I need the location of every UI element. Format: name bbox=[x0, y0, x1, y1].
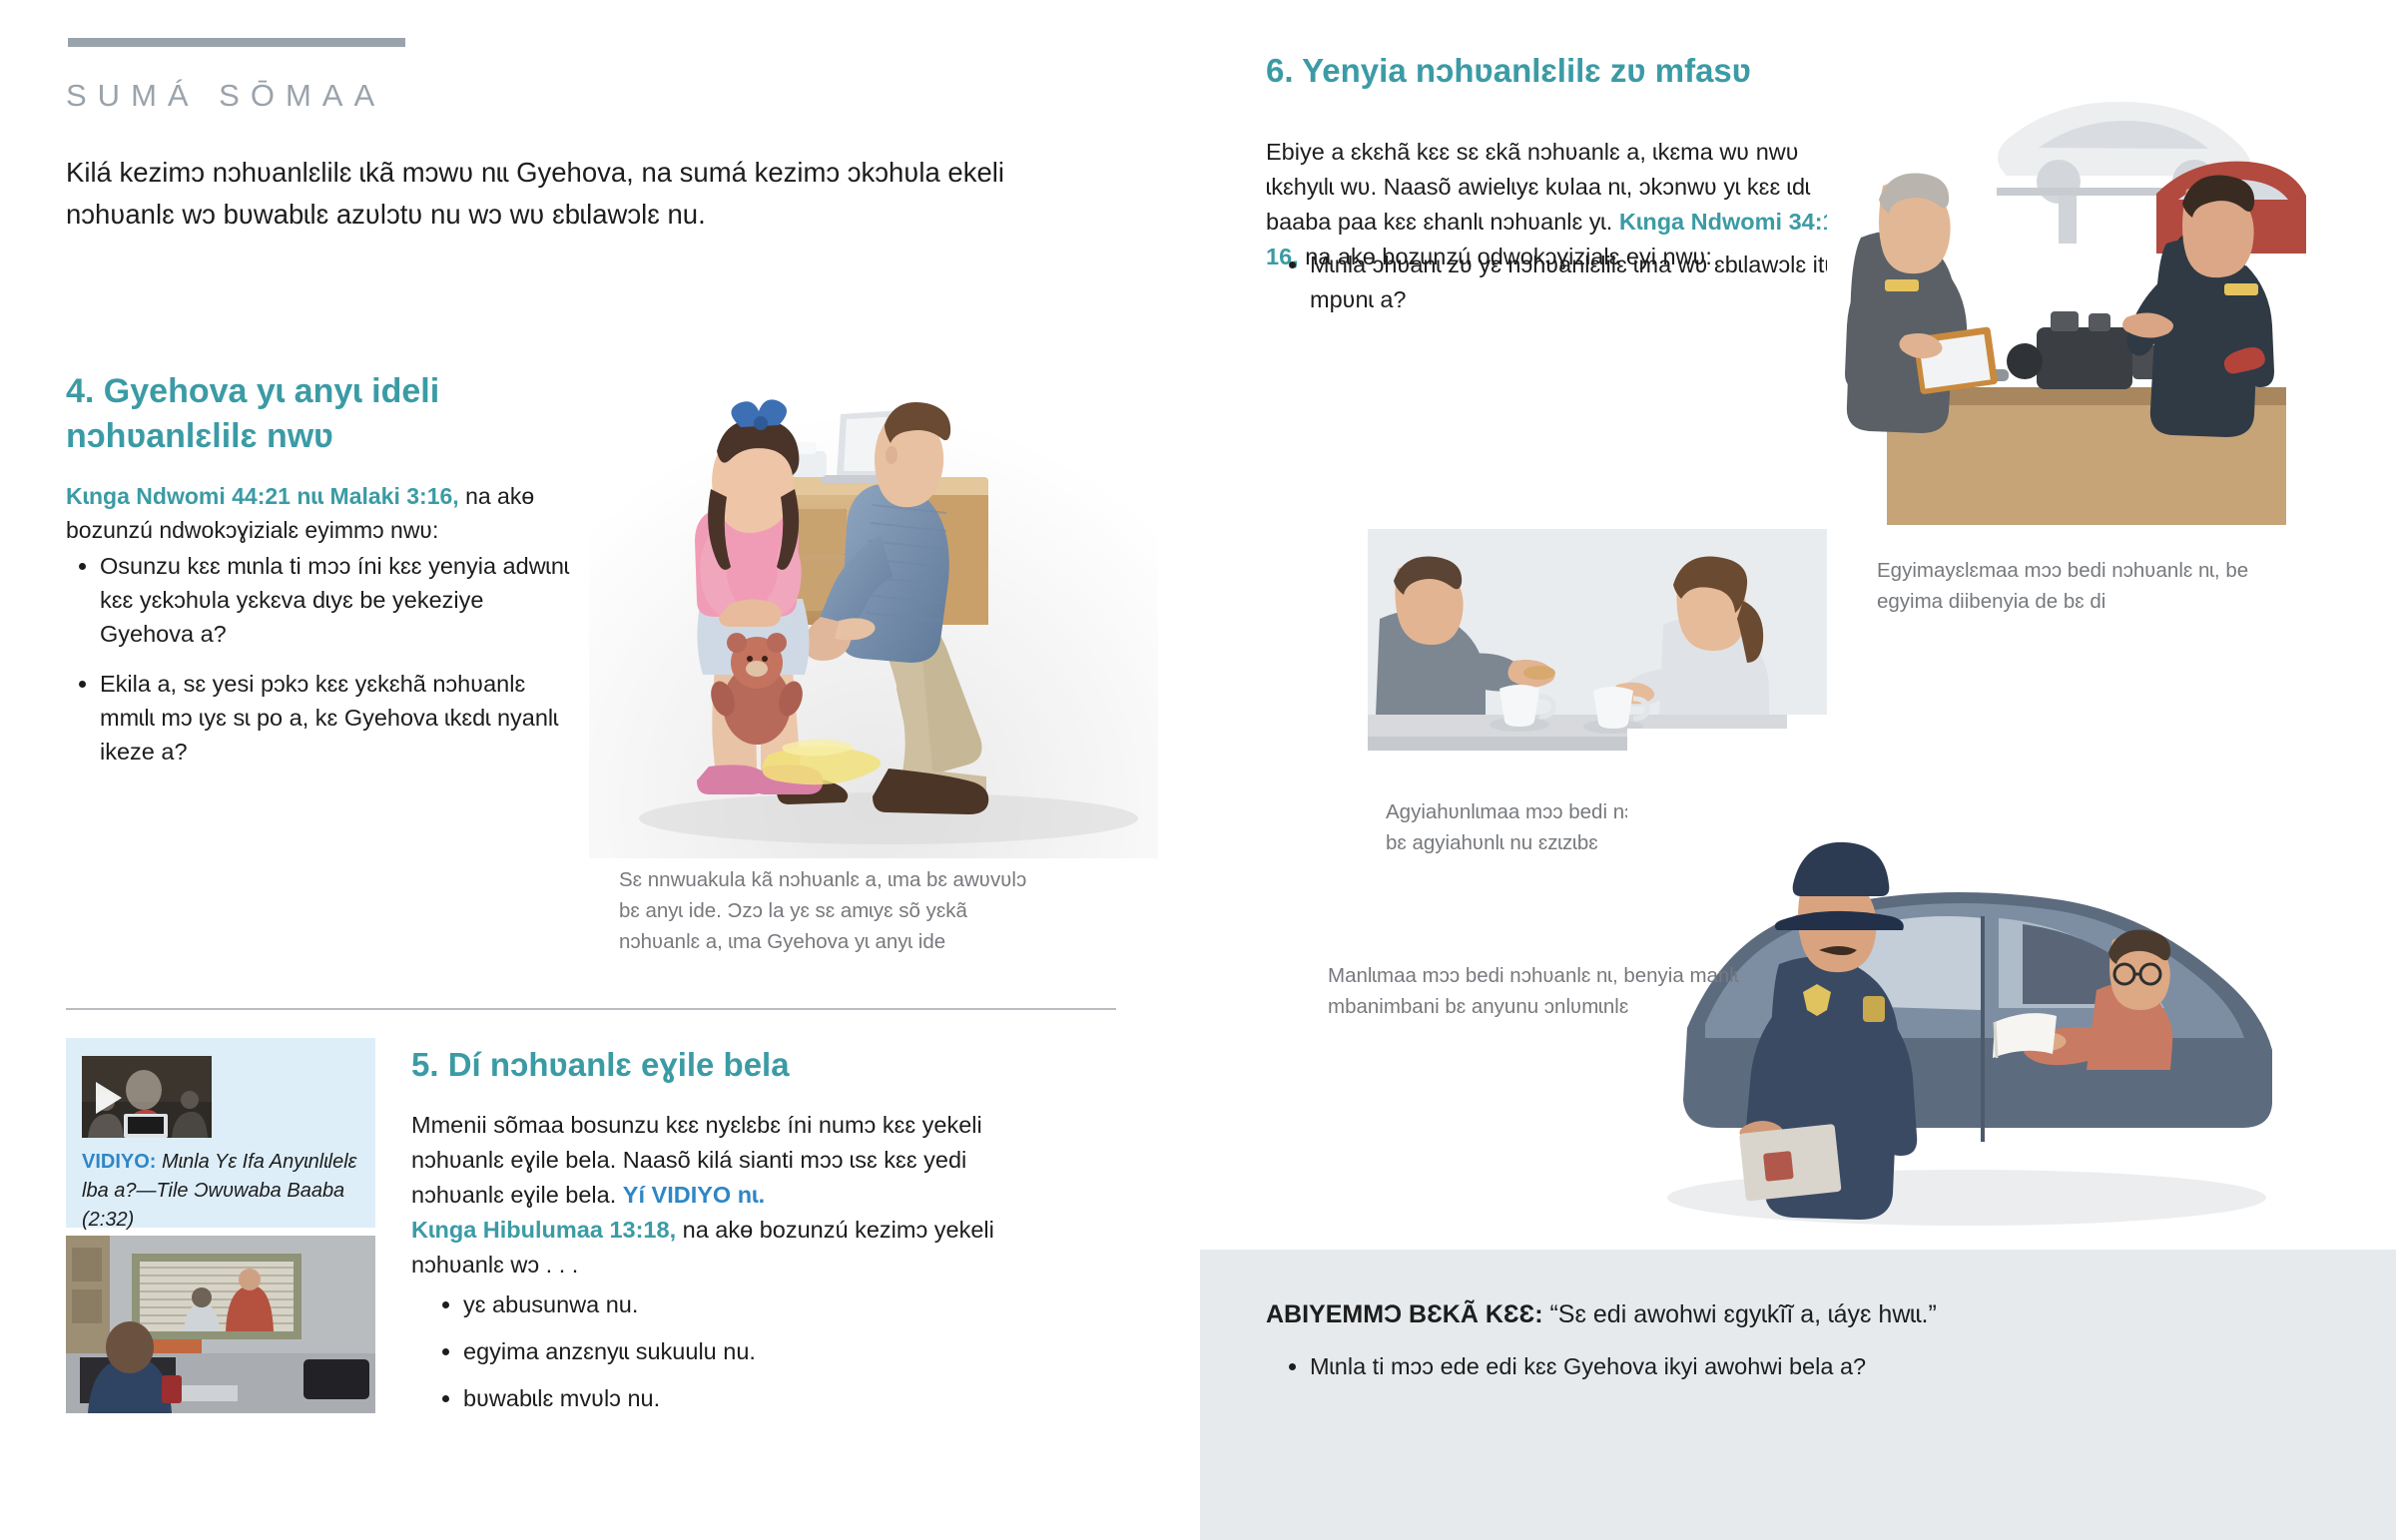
footer-panel-label: ABIYEMMƆ BƐKÃ KƐƐ: bbox=[1266, 1300, 1543, 1328]
illustration-caption-garage: Egyimayɛlɛmaa mɔɔ bedi nɔhʋanlɛ nɩ, be e… bbox=[1877, 555, 2296, 617]
list-item: Ekila a, sɛ yesi pɔkɔ kɛɛ yɛkɛhã nɔhʋanl… bbox=[100, 667, 579, 769]
illustration-mechanics-garage bbox=[1827, 70, 2306, 539]
section-4-question-list: Osunzu kɛɛ mɩnla ti mɔɔ íni kɛɛ yenyia a… bbox=[66, 549, 579, 784]
scripture-reference: Kɩnga Hibulumaa 13:18, bbox=[411, 1217, 676, 1243]
section-6-list: Mɩnla ɔhʋanɩ zʋ yɛ nɔhʋanlɛlilɛ ɩma wʋ ɛ… bbox=[1266, 248, 1899, 317]
section-4-heading: 4. Gyehova yɩ anyɩ ideli nɔhʋanlɛlilɛ nw… bbox=[66, 369, 545, 459]
illustration-father-and-daughter bbox=[589, 299, 1158, 858]
illustration-caption-left: Sɛ nnwuakula kã nɔhʋanlɛ a, ɩma bɛ awʋvʋ… bbox=[619, 864, 1038, 957]
video-label: VIDIYO: bbox=[82, 1151, 156, 1173]
section-4-scripture-line: Kɩnga Ndwomi 44:21 nɩɩ Malaki 3:16, na a… bbox=[66, 479, 535, 547]
page-kicker: SUMÁ SŌMAA bbox=[66, 78, 385, 114]
document-page: SUMÁ SŌMAA Kilá kezimɔ nɔhʋanlɛlilɛ ɩkã … bbox=[0, 0, 2396, 1540]
list-item: yɛ abusunwa nu. bbox=[463, 1287, 1062, 1322]
kicker-rule bbox=[68, 38, 405, 47]
section-5-list: yɛ abusunwa nu. egyima anzɛnyɩɩ sukuulu … bbox=[411, 1287, 1062, 1428]
list-item: bʋwabɩlɛ mvʋlɔ nu. bbox=[463, 1381, 1062, 1416]
scripture-reference: Kɩnga Ndwomi 44:21 nɩɩ Malaki 3:16, bbox=[66, 483, 459, 509]
video-caption: VIDIYO: Mɩnla Yɛ Ifa Anyɩnlɩlelɛ Ɩba a?—… bbox=[82, 1148, 361, 1235]
footer-panel-heading: ABIYEMMƆ BƐKÃ KƐƐ: “Sɛ edi awohwi ɛgyɩkĩ… bbox=[1266, 1297, 2314, 1331]
footer-panel-quote: “Sɛ edi awohwi ɛgyɩkĩĩ a, ɩáyɛ hwɩɩ.” bbox=[1543, 1300, 1937, 1328]
illustration-caption-police: Manlɩmaa mɔɔ bedi nɔhʋanlɛ nɩ, benyia ma… bbox=[1328, 960, 1767, 1022]
section-5-heading: 5. Dí nɔhʋanlɛ eɣile bela bbox=[411, 1046, 1030, 1084]
list-item: Mɩnla ɔhʋanɩ zʋ yɛ nɔhʋanlɛlilɛ ɩma wʋ ɛ… bbox=[1310, 248, 1899, 317]
section-divider bbox=[66, 1008, 1116, 1010]
footer-highlight-panel bbox=[1200, 1250, 2396, 1540]
video-still-image bbox=[66, 1236, 375, 1413]
footer-panel-list: Mɩnla ti mɔɔ ede edi kɛɛ Gyehova ikyi aw… bbox=[1266, 1349, 2358, 1384]
section-5-scripture-line: Kɩnga Hibulumaa 13:18, na akɵ bozunzú ke… bbox=[411, 1213, 1010, 1283]
list-item: Mɩnla ti mɔɔ ede edi kɛɛ Gyehova ikyi aw… bbox=[1310, 1349, 2358, 1384]
intro-paragraph: Kilá kezimɔ nɔhʋanlɛlilɛ ɩkã mɔwʋ nɩɩ Gy… bbox=[66, 152, 1024, 236]
list-item: Osunzu kɛɛ mɩnla ti mɔɔ íni kɛɛ yenyia a… bbox=[100, 549, 579, 651]
section-5-body: Mmenii sõmaa bosunzu kɛɛ nyɛlɛbɛ íni num… bbox=[411, 1108, 1010, 1213]
list-item: egyima anzɛnyɩɩ sukuulu nu. bbox=[463, 1334, 1062, 1369]
watch-video-link[interactable]: Yí VIDIYO nɩ. bbox=[623, 1182, 765, 1208]
play-icon[interactable] bbox=[96, 1082, 122, 1114]
